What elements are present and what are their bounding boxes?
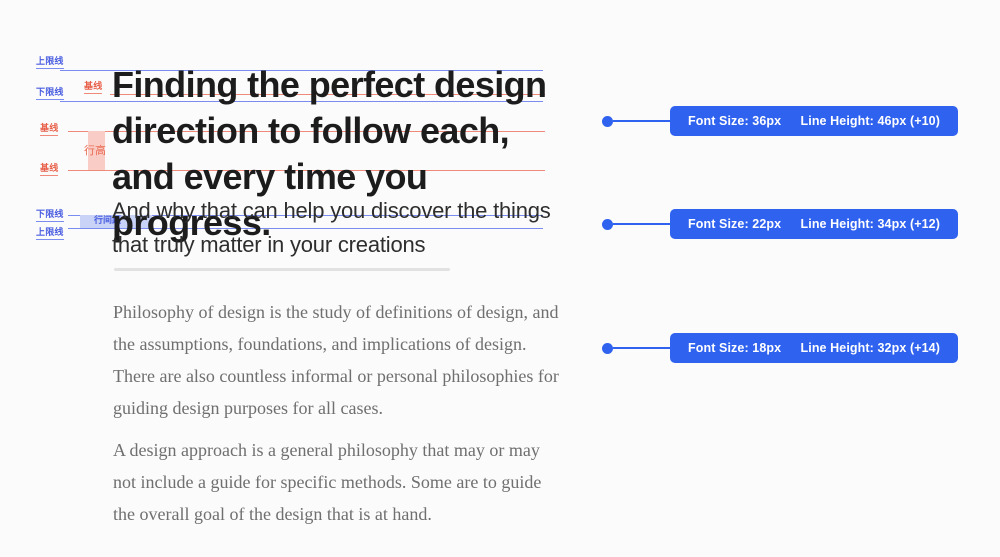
callout-pill-subheading[interactable]: Font Size: 22px Line Height: 34px (+12) bbox=[670, 209, 958, 239]
label-descender-top: 下限线 bbox=[36, 88, 64, 97]
callout-font-size-label: Font Size: 36px bbox=[688, 114, 781, 128]
callout-connector-line bbox=[613, 347, 670, 349]
label-baseline-1: 基线 bbox=[84, 82, 102, 91]
callout-font-size-label: Font Size: 22px bbox=[688, 217, 781, 231]
label-ascender-top: 上限线 bbox=[36, 57, 64, 66]
callout-line-height-label: Line Height: 32px (+14) bbox=[801, 341, 940, 355]
subheading-text: And why that can help you discover the t… bbox=[112, 194, 582, 262]
callout-dot-icon bbox=[602, 116, 613, 127]
callout-line-height-label: Line Height: 34px (+12) bbox=[801, 217, 940, 231]
label-baseline-3: 基线 bbox=[40, 164, 58, 173]
callout-dot-icon bbox=[602, 343, 613, 354]
callout-pill-body[interactable]: Font Size: 18px Line Height: 32px (+14) bbox=[670, 333, 958, 363]
body-paragraph-1: Philosophy of design is the study of def… bbox=[113, 296, 563, 424]
callout-font-size-label: Font Size: 18px bbox=[688, 341, 781, 355]
body-paragraph-2: A design approach is a general philosoph… bbox=[113, 434, 563, 530]
callout-dot-icon bbox=[602, 219, 613, 230]
callout-subheading-metrics: Font Size: 22px Line Height: 34px (+12) bbox=[602, 209, 958, 239]
typography-spec-canvas: 上限线 下限线 基线 基线 基线 下限线 上限线 行高 行间距 Finding … bbox=[0, 0, 1000, 557]
section-divider bbox=[114, 268, 450, 271]
label-descender-bottom: 下限线 bbox=[36, 210, 64, 219]
label-baseline-2: 基线 bbox=[40, 124, 58, 133]
label-ascender-bottom: 上限线 bbox=[36, 228, 64, 237]
callout-headline-metrics: Font Size: 36px Line Height: 46px (+10) bbox=[602, 106, 958, 136]
label-line-height: 行高 bbox=[84, 146, 106, 157]
callout-pill-headline[interactable]: Font Size: 36px Line Height: 46px (+10) bbox=[670, 106, 958, 136]
callout-connector-line bbox=[613, 120, 670, 122]
callout-connector-line bbox=[613, 223, 670, 225]
callout-line-height-label: Line Height: 46px (+10) bbox=[801, 114, 940, 128]
callout-body-metrics: Font Size: 18px Line Height: 32px (+14) bbox=[602, 333, 958, 363]
